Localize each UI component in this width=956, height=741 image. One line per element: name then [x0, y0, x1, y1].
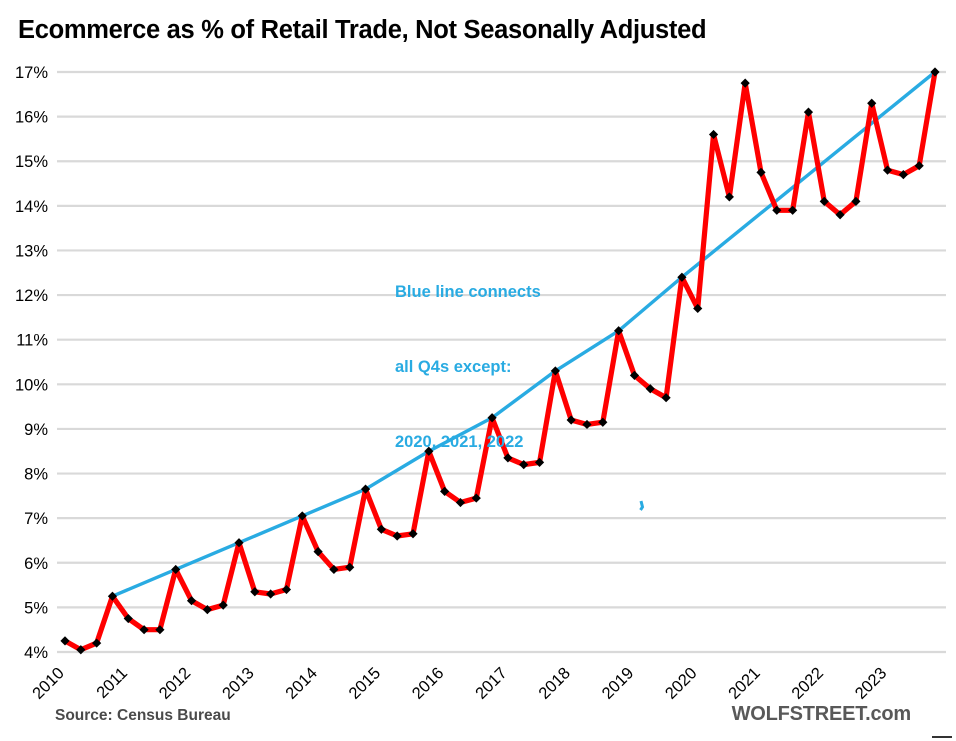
- y-axis-tick-label: 12%: [15, 287, 48, 305]
- stray-blue-mark: [641, 501, 643, 510]
- y-axis-tick-label: 16%: [15, 109, 48, 127]
- chart-container: Ecommerce as % of Retail Trade, Not Seas…: [0, 0, 956, 741]
- corner-mark: [932, 733, 952, 738]
- x-axis-tick-label: 2019: [599, 664, 638, 703]
- x-axis-tick-label: 2020: [662, 664, 701, 703]
- source-label: Source: Census Bureau: [55, 707, 231, 725]
- annotation-line-3: 2020, 2021, 2022: [395, 430, 541, 455]
- y-axis-tick-label: 10%: [15, 376, 48, 394]
- x-axis-tick-label: 2013: [219, 664, 258, 703]
- y-axis-tick-label: 13%: [15, 242, 48, 260]
- y-axis-tick-label: 4%: [24, 644, 48, 662]
- y-axis-tick-label: 11%: [16, 332, 48, 350]
- annotation-line-2: all Q4s except:: [395, 355, 541, 380]
- x-axis-tick-label: 2021: [725, 664, 764, 703]
- x-axis-tick-label: 2023: [852, 664, 891, 703]
- x-axis-tick-label: 2016: [409, 664, 448, 703]
- data-point-marker: [788, 206, 797, 215]
- data-point-marker: [741, 79, 750, 88]
- y-axis-tick-label: 9%: [24, 421, 48, 439]
- data-point-marker: [804, 108, 813, 117]
- y-axis-tick-label: 15%: [15, 153, 48, 171]
- y-axis-tick-label: 17%: [15, 64, 48, 82]
- x-axis-tick-label: 2012: [156, 664, 195, 703]
- y-axis-tick-label: 7%: [24, 510, 48, 528]
- y-axis-tick-label: 8%: [24, 466, 48, 484]
- y-axis-tick-label: 6%: [24, 555, 48, 573]
- y-axis-tick-label: 14%: [15, 198, 48, 216]
- x-axis-tick-label: 2015: [346, 664, 385, 703]
- x-axis-tick-label: 2017: [472, 664, 511, 703]
- brand-label: WOLFSTREET.com: [732, 703, 911, 726]
- data-point-marker: [598, 418, 607, 427]
- chart-annotation: Blue line connects all Q4s except: 2020,…: [395, 230, 541, 505]
- x-axis-tick-label: 2014: [282, 664, 321, 703]
- x-axis-tick-label: 2018: [535, 664, 574, 703]
- y-axis-tick-label: 5%: [24, 599, 48, 617]
- x-axis-tick-label: 2010: [29, 664, 68, 703]
- x-axis-tick-label: 2011: [93, 664, 131, 702]
- x-axis-ticks: 2010201120122013201420152016201720182019…: [29, 664, 890, 703]
- annotation-line-1: Blue line connects: [395, 280, 541, 305]
- x-axis-tick-label: 2022: [788, 664, 827, 703]
- chart-title: Ecommerce as % of Retail Trade, Not Seas…: [18, 16, 706, 45]
